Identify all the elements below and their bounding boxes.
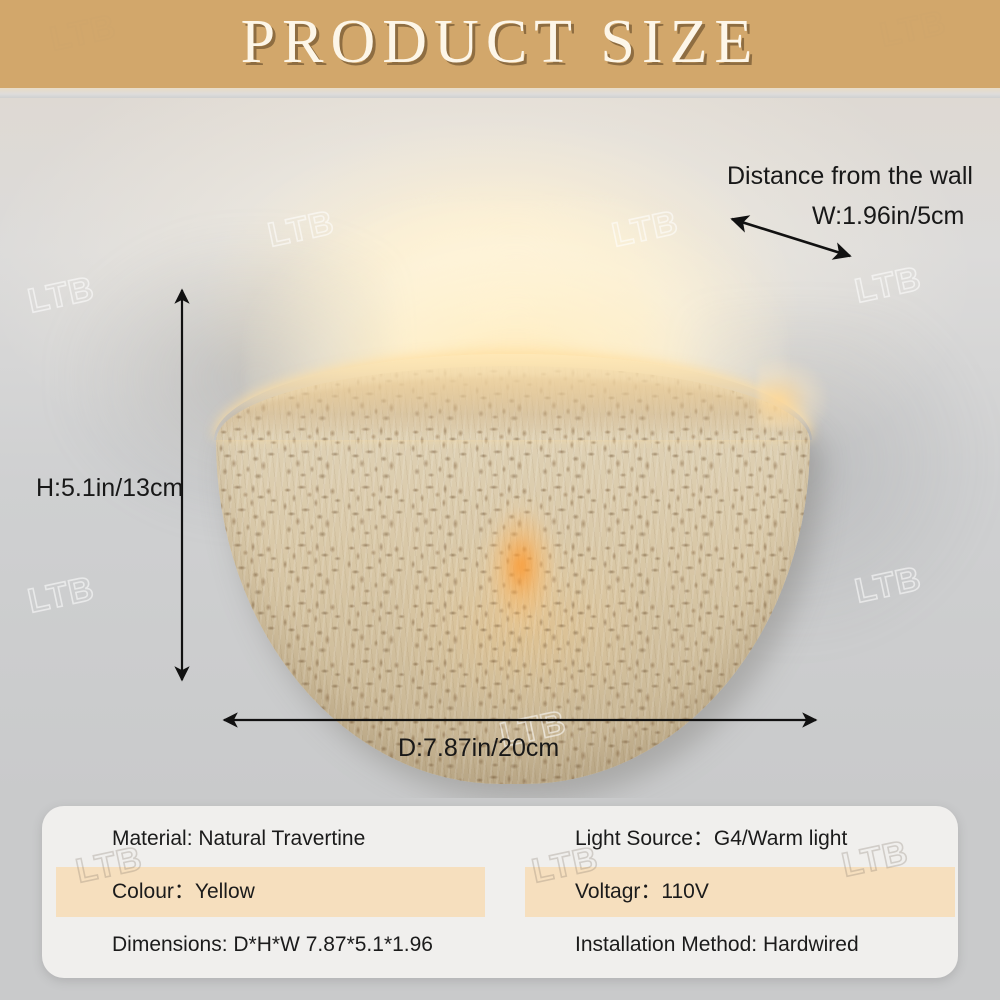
wall-distance-label: W:1.96in/5cm [812,201,964,232]
specification-card: LTB LTB LTB Material: Natural Travertine… [42,806,958,978]
page-title: PRODUCT SIZE [0,6,1000,78]
spec-column-right: Light Source：G4/Warm light Voltagr：110V … [525,806,958,978]
spec-row-light-source: Light Source：G4/Warm light [575,814,847,864]
lamp-bulb-hotspot [481,496,561,636]
spec-row-material: Material: Natural Travertine [112,814,365,864]
height-dimension-label: H:5.1in/13cm [36,473,183,504]
depth-dimension-label: D:7.87in/20cm [398,733,559,764]
wall-distance-caption: Distance from the wall [727,161,973,192]
spec-row-colour: Colour：Yellow [112,867,255,917]
spec-row-installation: Installation Method: Hardwired [575,920,859,970]
lamp-right-edge-glow [758,358,828,428]
spec-row-voltage: Voltagr：110V [575,867,709,917]
header-banner: LTB LTB PRODUCT SIZE [0,0,1000,88]
spec-column-left: Material: Natural Travertine Colour：Yell… [56,806,496,978]
watermark-logo: LTB [25,570,98,622]
spec-row-dimensions: Dimensions: D*H*W 7.87*5.1*1.96 [112,920,433,970]
banner-fade-divider [0,88,1000,98]
product-image-wall-sconce [216,258,816,688]
watermark-logo: LTB [852,260,925,312]
